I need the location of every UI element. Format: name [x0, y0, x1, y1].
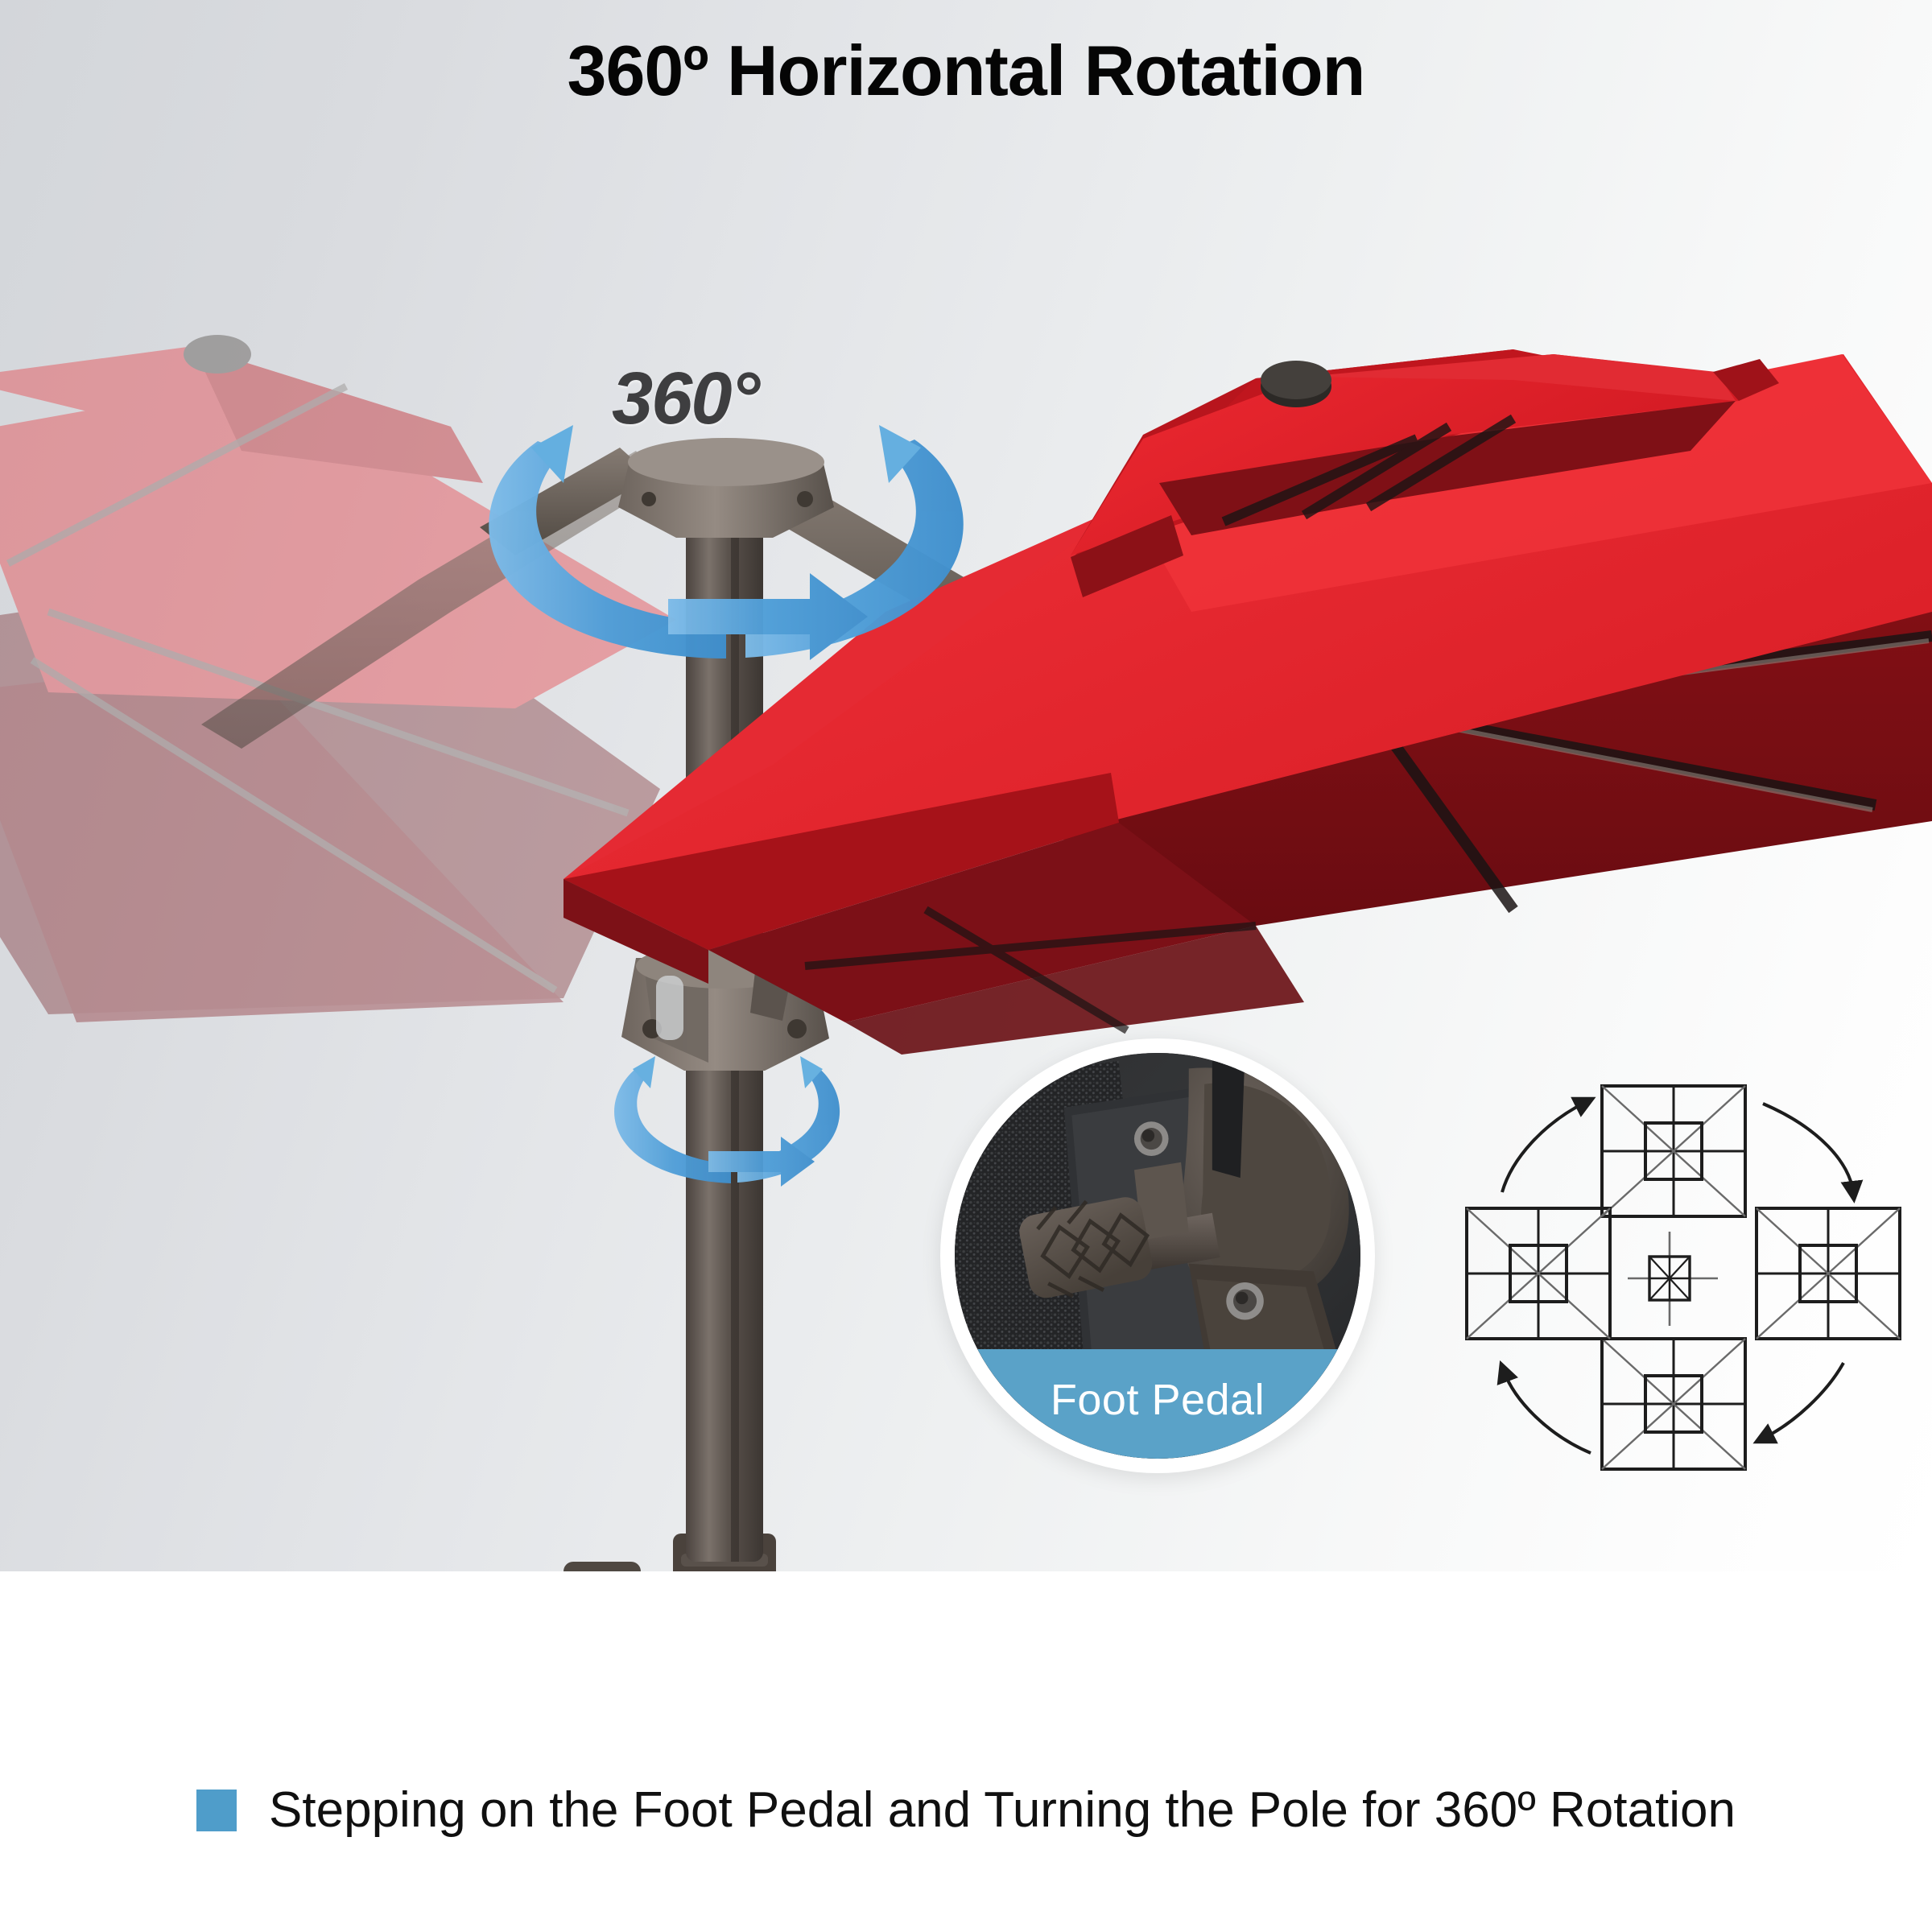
foot-pedal-label: Foot Pedal: [955, 1349, 1360, 1459]
foot-pedal-inset: Foot Pedal: [940, 1038, 1375, 1473]
rotation-badge-label: 360°: [612, 357, 758, 441]
plan-position-left: [1467, 1208, 1610, 1339]
plan-center-marker: [1628, 1232, 1718, 1326]
foot-pedal-inset-ring: Foot Pedal: [950, 1048, 1365, 1463]
plan-arrow-right-bottom: [1763, 1363, 1843, 1439]
plan-arrow-top-right: [1763, 1104, 1853, 1192]
rotation-plan-diagram: [1441, 1051, 1916, 1521]
plan-position-top: [1602, 1086, 1745, 1216]
plan-position-bottom: [1602, 1339, 1745, 1469]
plan-arrow-left-top: [1502, 1102, 1586, 1192]
plan-arrow-bottom-left: [1504, 1371, 1591, 1453]
infographic-root: 360º Horizontal Rotation: [0, 0, 1932, 1932]
plan-position-right: [1757, 1208, 1900, 1339]
caption-text: Stepping on the Foot Pedal and Turning t…: [269, 1785, 1736, 1835]
caption-bullet-swatch: [196, 1790, 237, 1831]
caption-row: Stepping on the Foot Pedal and Turning t…: [0, 1766, 1932, 1855]
